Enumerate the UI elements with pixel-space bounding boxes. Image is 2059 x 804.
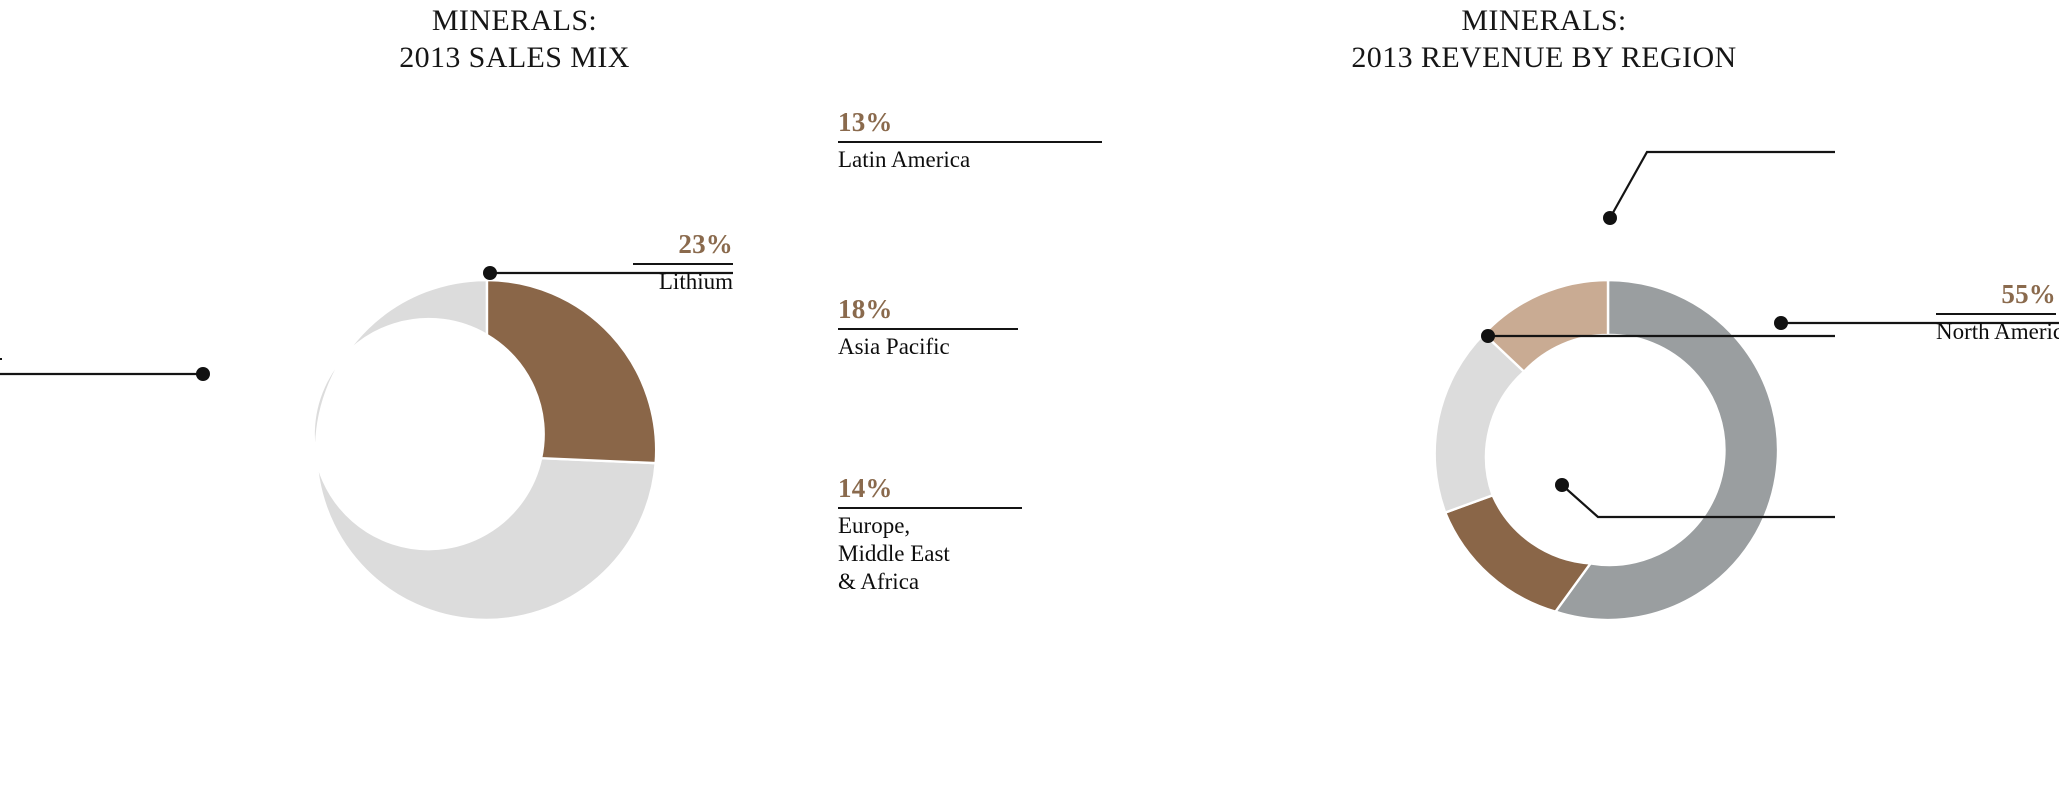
callout-label-line: Europe,: [838, 512, 1022, 540]
title-line-2: 2013 REVENUE BY REGION: [1029, 39, 2059, 76]
donut-svg-sales-mix: [317, 280, 657, 620]
callout-lithium[interactable]: 23% Lithium: [633, 230, 733, 296]
callout-label-line: Asia Pacific: [838, 333, 1018, 361]
leader-dot-latin-america: [1603, 211, 1617, 225]
title-line-1: MINERALS:: [1029, 2, 2059, 39]
title-line-1: MINERALS:: [0, 2, 1029, 39]
callout-rule-asia-pacific: [838, 328, 1018, 330]
donut-slice-lithium[interactable]: [487, 280, 656, 463]
donut-chart-revenue-by-region: [1438, 280, 1778, 620]
callout-percent-alkali: 77%: [0, 325, 2, 353]
callout-north-america[interactable]: 55% North America: [1936, 280, 2056, 346]
callout-rule-emea: [838, 507, 1022, 509]
leader-dot-alkali: [196, 367, 210, 381]
callout-asia-pacific[interactable]: 18% Asia Pacific: [838, 295, 1018, 361]
callout-label-emea: Europe, Middle East & Africa: [838, 512, 1022, 596]
callout-label-line: Lithium: [633, 268, 733, 296]
donut-svg-revenue-by-region: [1438, 280, 1778, 620]
leader-dot-lithium: [483, 266, 497, 280]
callout-label-line: North America: [1936, 318, 2056, 346]
callout-percent-emea: 14%: [838, 474, 1022, 502]
callout-rule-lithium: [633, 263, 733, 265]
callout-latin-america[interactable]: 13% Latin America: [838, 108, 1102, 174]
donut-slice-emea[interactable]: [1445, 495, 1590, 611]
callout-label-line: & Africa: [838, 568, 1022, 596]
callout-label-line: Alkali: [0, 363, 2, 391]
callout-alkali[interactable]: 77% Alkali: [0, 325, 2, 391]
donut-slice-asia-pacific[interactable]: [1435, 334, 1524, 513]
callout-label-alkali: Alkali: [0, 363, 2, 391]
callout-rule-north-america: [1936, 313, 2056, 315]
chart-panel-revenue-by-region: MINERALS: 2013 REVENUE BY REGION: [1029, 0, 2059, 804]
leader-line-latin-america: [1610, 152, 1835, 218]
page-title-revenue-by-region: MINERALS: 2013 REVENUE BY REGION: [1029, 2, 2059, 76]
callout-label-north-america: North America: [1936, 318, 2056, 346]
callout-label-asia-pacific: Asia Pacific: [838, 333, 1018, 361]
callout-percent-latin-america: 13%: [838, 108, 1102, 136]
callout-percent-north-america: 55%: [1936, 280, 2056, 308]
callout-label-lithium: Lithium: [633, 268, 733, 296]
callout-label-latin-america: Latin America: [838, 146, 1102, 174]
donut-chart-sales-mix: [317, 280, 657, 620]
callout-label-line: Middle East: [838, 540, 1022, 568]
callout-label-line: Latin America: [838, 146, 1102, 174]
callout-emea[interactable]: 14% Europe, Middle East & Africa: [838, 474, 1022, 596]
callout-percent-lithium: 23%: [633, 230, 733, 258]
callout-rule-alkali: [0, 358, 2, 360]
callout-percent-asia-pacific: 18%: [838, 295, 1018, 323]
title-line-2: 2013 SALES MIX: [0, 39, 1029, 76]
page-title-sales-mix: MINERALS: 2013 SALES MIX: [0, 2, 1029, 76]
callout-rule-latin-america: [838, 141, 1102, 143]
